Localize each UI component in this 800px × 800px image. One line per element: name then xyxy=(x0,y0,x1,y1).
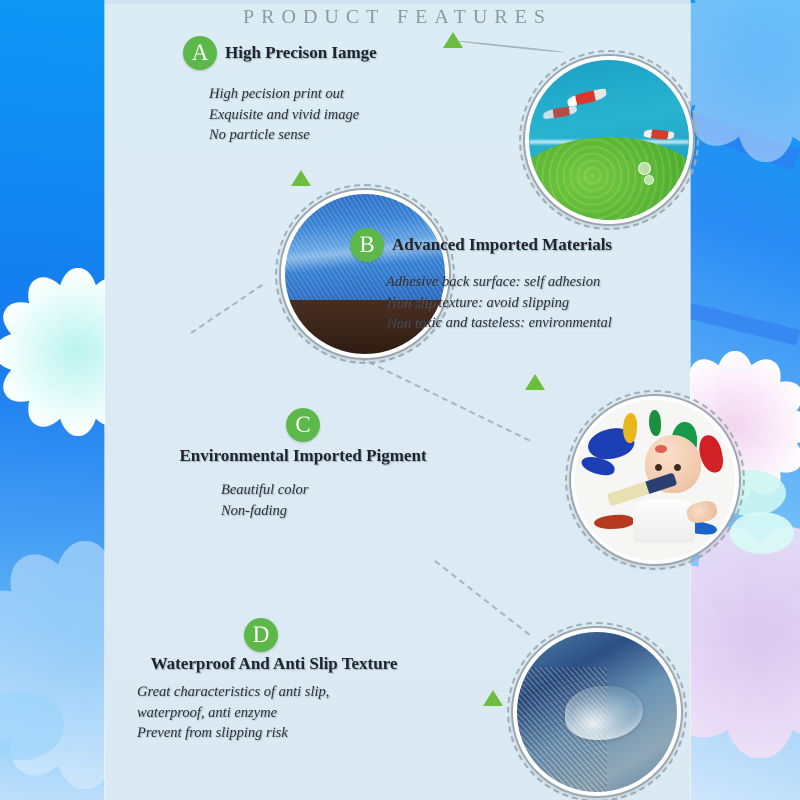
feature-d-line: waterproof, anti enzyme xyxy=(137,703,439,724)
koi-pond-photo xyxy=(525,56,693,224)
feature-a-line: High pecision print out xyxy=(209,84,377,105)
content-panel: PRODUCT FEATURES xyxy=(105,0,690,800)
panel-top-rule xyxy=(105,0,690,4)
feature-a-line: Exquisite and vivid image xyxy=(209,105,377,126)
feature-a-line: No particle sense xyxy=(209,125,377,146)
feature-c-lines: Beautiful color Non-fading xyxy=(221,480,473,521)
feature-block-d: D Waterproof And Anti Slip Texture Great… xyxy=(109,618,439,744)
baby-painting-photo xyxy=(571,396,739,564)
feature-d-header: D xyxy=(109,618,413,652)
badge-letter-c: C xyxy=(286,408,320,442)
badge-letter-d: D xyxy=(244,618,278,652)
feature-c-title: Environmental Imported Pigment xyxy=(133,446,473,466)
connector-dashed xyxy=(190,284,262,334)
feature-c-line: Beautiful color xyxy=(221,480,473,501)
feature-d-line: Prevent from slipping risk xyxy=(137,723,439,744)
feature-c-header: C xyxy=(133,408,473,442)
arrow-marker-a xyxy=(443,32,463,48)
feature-b-line: Non toxic and tasteless: environmental xyxy=(386,313,612,334)
feature-d-lines: Great characteristics of anti slip, wate… xyxy=(137,682,439,744)
feature-b-line: Non slip texture: avoid slipping xyxy=(386,293,612,314)
product-features-infographic: PRODUCT FEATURES xyxy=(0,0,800,800)
feature-b-title: Advanced Imported Materials xyxy=(392,235,612,255)
feature-a-header: A High Precison Iamge xyxy=(183,36,377,70)
feature-c-line: Non-fading xyxy=(221,501,473,522)
feature-d-title: Waterproof And Anti Slip Texture xyxy=(109,654,439,674)
blob-ornament xyxy=(730,512,794,554)
feature-block-b: B Advanced Imported Materials Adhesive b… xyxy=(350,228,612,334)
feature-b-line: Adhesive back surface: self adhesion xyxy=(386,272,612,293)
badge-letter-a: A xyxy=(183,36,217,70)
badge-letter-b: B xyxy=(350,228,384,262)
connector-c-to-d xyxy=(434,560,530,635)
arrow-marker-c xyxy=(525,374,545,390)
connector-dashed xyxy=(457,40,565,53)
feature-b-lines: Adhesive back surface: self adhesion Non… xyxy=(386,272,612,334)
page-title: PRODUCT FEATURES xyxy=(105,6,690,29)
feature-block-a: A High Precison Iamge High pecision prin… xyxy=(183,36,377,146)
feature-d-line: Great characteristics of anti slip, xyxy=(137,682,439,703)
water-droplet-photo xyxy=(513,628,681,796)
feature-a-lines: High pecision print out Exquisite and vi… xyxy=(209,84,377,146)
feature-block-c: C Environmental Imported Pigment Beautif… xyxy=(133,408,473,521)
arrow-marker-b xyxy=(291,170,311,186)
arrow-marker-d xyxy=(483,690,503,706)
feature-b-header: B Advanced Imported Materials xyxy=(350,228,612,262)
feature-a-title: High Precison Iamge xyxy=(225,43,377,63)
